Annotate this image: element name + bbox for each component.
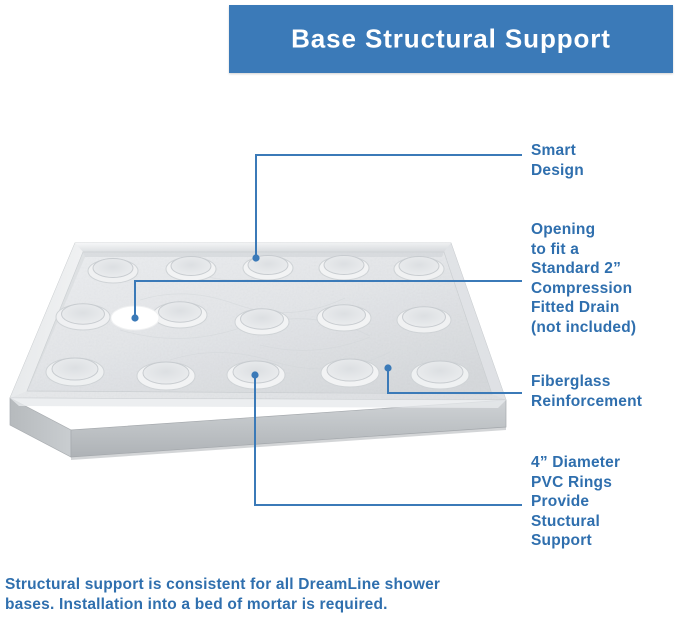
pvc-ring	[321, 359, 379, 387]
pvc-ring	[56, 304, 110, 330]
pvc-ring	[411, 361, 469, 389]
pvc-ring	[319, 256, 369, 281]
pvc-ring	[317, 305, 371, 331]
footer-caption: Structural support is consistent for all…	[5, 575, 475, 615]
pvc-ring	[166, 257, 216, 282]
pvc-ring	[137, 362, 195, 390]
pvc-ring	[46, 358, 104, 386]
callout-label-drain-opening: Opening to fit a Standard 2” Compression…	[531, 220, 636, 337]
pvc-ring	[397, 307, 451, 333]
pvc-ring	[235, 309, 289, 335]
pvc-ring	[88, 259, 138, 284]
callout-label-pvc-rings: 4” Diameter PVC Rings Provide Stuctural …	[531, 453, 620, 551]
pvc-ring	[153, 302, 207, 328]
pvc-ring	[394, 257, 444, 282]
pvc-ring	[243, 256, 293, 281]
callout-label-smart-design: Smart Design	[531, 141, 584, 180]
callout-label-fiberglass-reinforcement: Fiberglass Reinforcement	[531, 372, 642, 411]
